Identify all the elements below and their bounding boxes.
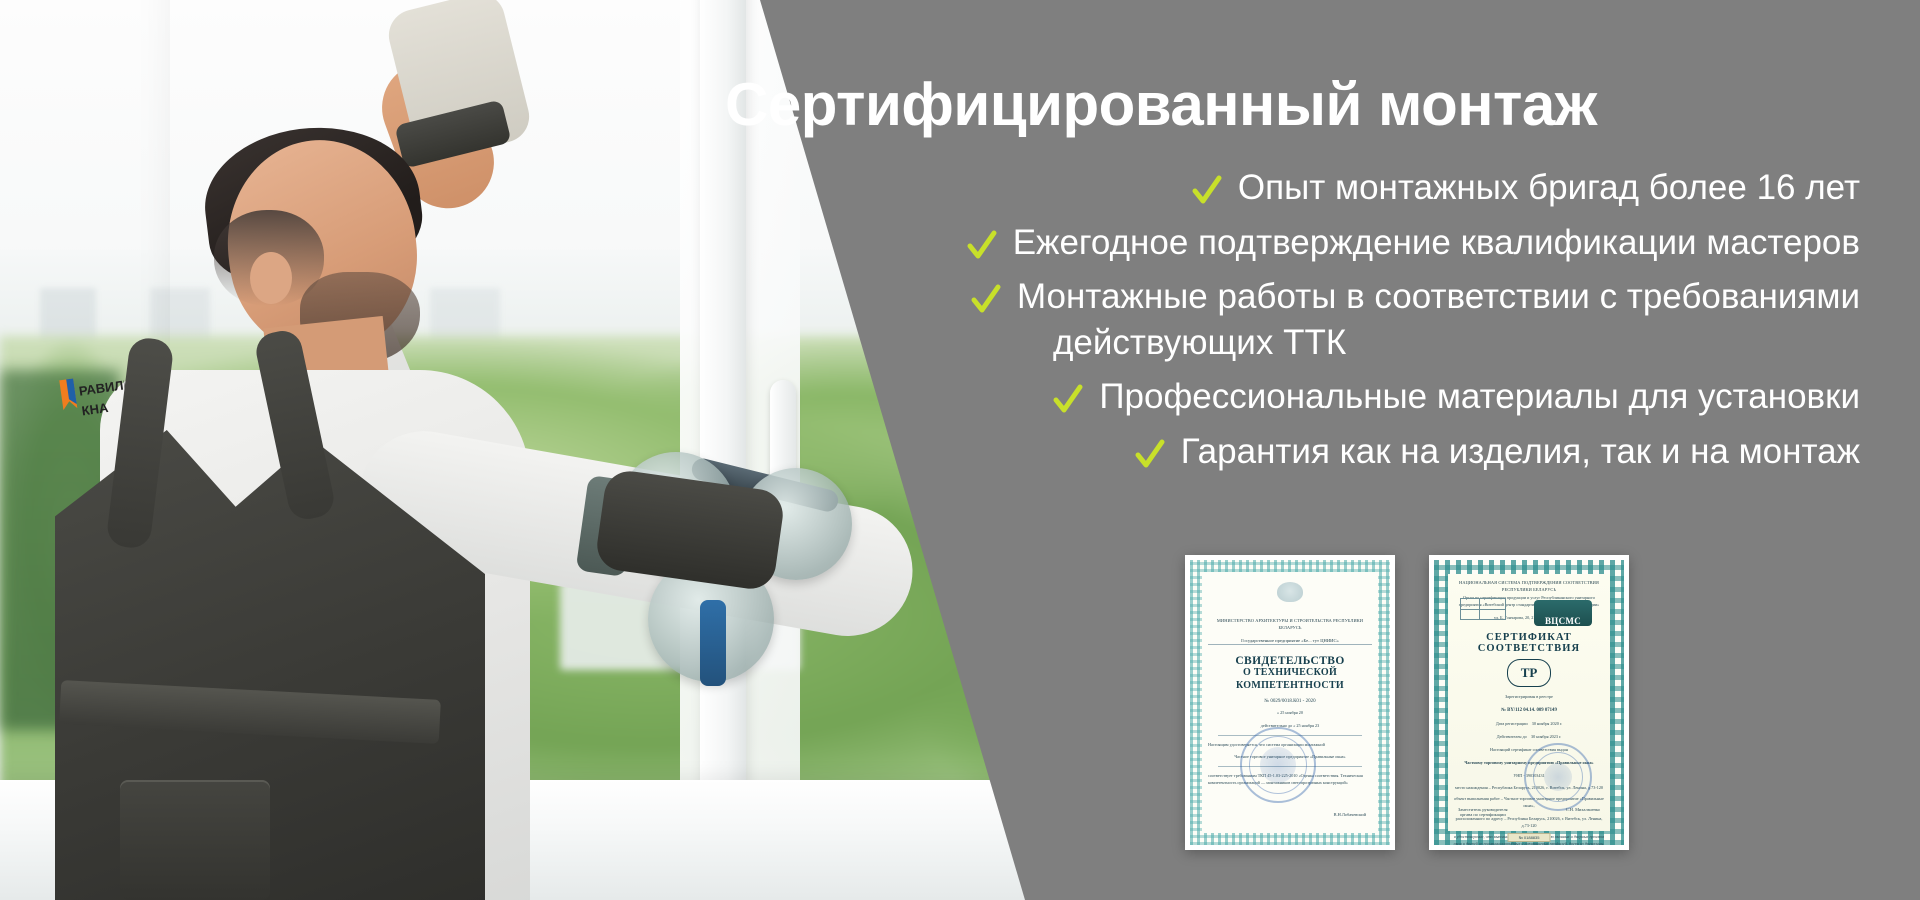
page-title: Сертифицированный монтаж <box>725 70 1825 139</box>
certificate-issued-to-label: Настоящий сертификат соответствия выдан <box>1452 747 1606 754</box>
content-area: Сертифицированный монтаж Опыт монтажных … <box>600 0 1920 900</box>
certificate-technical-competence[interactable]: МИНИСТЕРСТВО АРХИТЕКТУРЫ И СТРОИТЕЛЬСТВА… <box>1185 555 1395 850</box>
issue-month: ноября <box>1285 710 1297 715</box>
certificate-org: Государственное предприятие «Бе... тут Ц… <box>1208 638 1372 645</box>
list-item-label-line1: Монтажные работы в соответствии с требов… <box>1017 277 1860 316</box>
date-value: 30 ноября 2020 г. <box>1532 721 1562 726</box>
certificate-signature-row: В.Н.Лобачевский <box>1208 812 1372 817</box>
list-item: Ежегодное подтверждение квалификации мас… <box>967 220 1860 266</box>
valid-month: ноября <box>1302 723 1314 728</box>
check-icon <box>1053 383 1083 417</box>
vcsms-mark-icon: ВЦСМС <box>1534 600 1592 626</box>
coat-of-arms-icon <box>1277 582 1303 602</box>
valid-value: 30 ноября 2023 г. <box>1531 734 1561 739</box>
certificate-heading-1: СВИДЕТЕЛЬСТВО <box>1208 655 1372 667</box>
list-item-label-line2: действующих ТТК <box>1017 320 1860 366</box>
banner-root: РАВИЛЬ КНА Сертифицированный монтаж Опыт… <box>0 0 1920 900</box>
official-stamp <box>1240 727 1316 803</box>
check-icon <box>967 229 997 263</box>
certificate-issue-date: « 25 ноября 20 <box>1208 710 1372 717</box>
valid-year: 23 <box>1315 723 1319 728</box>
check-icon <box>971 283 1001 317</box>
certificate-ministry: МИНИСТЕРСТВО АРХИТЕКТУРЫ И СТРОИТЕЛЬСТВА… <box>1208 618 1372 631</box>
signer-title-line2: органа по сертификации <box>1460 812 1506 817</box>
list-item-label: Монтажные работы в соответствии с требов… <box>1017 274 1860 365</box>
date-label: Дата регистрации <box>1496 721 1528 726</box>
certificate-reg-number: № BY/112 04.14. 009 07149 <box>1452 707 1606 715</box>
certificate-signer: С.Н. Михальченко <box>1566 807 1600 817</box>
certificate-content: МИНИСТЕРСТВО АРХИТЕКТУРЫ И СТРОИТЕЛЬСТВА… <box>1208 576 1372 829</box>
date-quote: « <box>1277 710 1279 715</box>
certificate-reg-label: Зарегистрирован в реестре <box>1452 694 1606 701</box>
valid-day: 25 <box>1296 723 1300 728</box>
certificate-image: МИНИСТЕРСТВО АРХИТЕКТУРЫ И СТРОИТЕЛЬСТВА… <box>1190 560 1390 845</box>
certificate-signature-row: Заместитель руководителя органа по серти… <box>1452 807 1606 817</box>
list-item-label: Гарантия как на изделия, так и на монтаж <box>1181 429 1860 475</box>
certificate-image: НАЦИОНАЛЬНАЯ СИСТЕМА ПОДТВЕРЖДЕНИЯ СООТВ… <box>1434 560 1624 845</box>
issue-year: 20 <box>1299 710 1303 715</box>
worker-pocket <box>120 780 270 900</box>
certificate-number: № 0029/0018.К01 - 2020 <box>1208 699 1372 704</box>
list-item-label: Профессиональные материалы для установки <box>1099 374 1860 420</box>
certificate-signer-title: Заместитель руководителя органа по серти… <box>1458 807 1508 817</box>
list-item: Опыт монтажных бригад более 16 лет <box>1192 165 1860 211</box>
certificate-heading: СЕРТИФИКАТ СООТВЕТСТВИЯ <box>1452 632 1606 654</box>
certificates-gallery: МИНИСТЕРСТВО АРХИТЕКТУРЫ И СТРОИТЕЛЬСТВА… <box>1185 555 1629 850</box>
certificate-address-2: расположенного по адресу – Республика Бе… <box>1452 816 1606 830</box>
benefits-list: Опыт монтажных бригад более 16 лет Ежего… <box>600 165 1860 474</box>
certificate-valid-row: Действителен до 30 ноября 2023 г. <box>1452 734 1606 741</box>
certificate-system: НАЦИОНАЛЬНАЯ СИСТЕМА ПОДТВЕРЖДЕНИЯ СООТВ… <box>1452 580 1606 593</box>
list-item: Гарантия как на изделия, так и на монтаж <box>1135 429 1860 475</box>
certificate-of-conformity[interactable]: НАЦИОНАЛЬНАЯ СИСТЕМА ПОДТВЕРЖДЕНИЯ СООТВ… <box>1429 555 1629 850</box>
list-item: Монтажные работы в соответствии с требов… <box>971 274 1860 365</box>
certificate-footer-number: № 0188835 <box>1508 833 1551 842</box>
certificate-heading-2: О ТЕХНИЧЕСКОЙ КОМПЕТЕНТНОСТИ <box>1208 667 1372 692</box>
check-icon <box>1192 174 1222 208</box>
worker-ear <box>250 252 292 304</box>
list-item-label: Ежегодное подтверждение квалификации мас… <box>1013 220 1860 266</box>
brand-logo: РАВИЛЬ КНА <box>53 368 133 457</box>
svg-text:КНА: КНА <box>81 400 110 419</box>
issue-day: 25 <box>1280 710 1284 715</box>
check-icon <box>1135 438 1165 472</box>
certificate-date-row: Дата регистрации 30 ноября 2020 г. <box>1452 721 1606 728</box>
valid-label: Действителен до <box>1497 734 1527 739</box>
certificate-code-table <box>1460 598 1506 620</box>
certificate-signer: В.Н.Лобачевский <box>1334 812 1366 817</box>
certificate-content: НАЦИОНАЛЬНАЯ СИСТЕМА ПОДТВЕРЖДЕНИЯ СООТВ… <box>1452 576 1606 829</box>
official-stamp <box>1524 743 1592 811</box>
list-item: Профессиональные материалы для установки <box>1053 374 1860 420</box>
list-item-label: Опыт монтажных бригад более 16 лет <box>1238 165 1860 211</box>
tr-mark-icon: ТР <box>1507 659 1551 687</box>
